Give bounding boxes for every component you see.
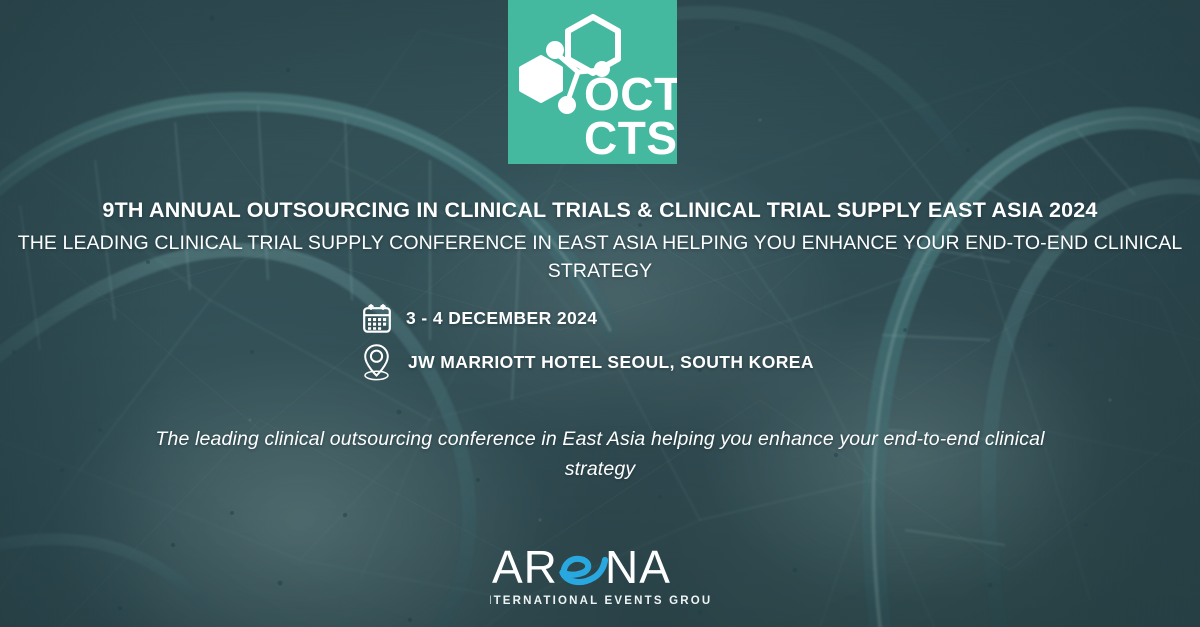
event-tagline: The leading clinical outsourcing confere… xyxy=(150,424,1050,484)
event-banner: OCT CTS 9TH ANNUAL OUTSOURCING IN CLINIC… xyxy=(0,0,1200,627)
event-venue-row: JW MARRIOTT HOTEL SEOUL, SOUTH KOREA xyxy=(0,340,1200,384)
event-venue-text: JW MARRIOTT HOTEL SEOUL, SOUTH KOREA xyxy=(408,352,814,373)
arena-accent-e xyxy=(563,559,606,582)
arena-logo[interactable]: AR NA INTERNATIONAL EVENTS GROUP xyxy=(0,537,1200,609)
arena-wordmark-left: AR xyxy=(492,541,558,593)
arena-logo-graphic: AR NA INTERNATIONAL EVENTS GROUP xyxy=(490,537,710,609)
page-subtitle: THE LEADING CLINICAL TRIAL SUPPLY CONFER… xyxy=(14,230,1186,285)
event-date-text: 3 - 4 DECEMBER 2024 xyxy=(406,308,597,329)
location-pin-icon xyxy=(360,343,394,381)
page-title: 9TH ANNUAL OUTSOURCING IN CLINICAL TRIAL… xyxy=(0,198,1200,224)
event-details: 3 - 4 DECEMBER 2024 JW MARRIOTT HOTEL SE… xyxy=(0,296,1200,384)
arena-logo-tagline: INTERNATIONAL EVENTS GROUP xyxy=(490,595,710,607)
banner-content: 9TH ANNUAL OUTSOURCING IN CLINICAL TRIAL… xyxy=(0,0,1200,627)
event-date-row: 3 - 4 DECEMBER 2024 xyxy=(0,296,1200,340)
arena-wordmark-right: NA xyxy=(605,541,671,593)
calendar-icon xyxy=(362,303,392,334)
